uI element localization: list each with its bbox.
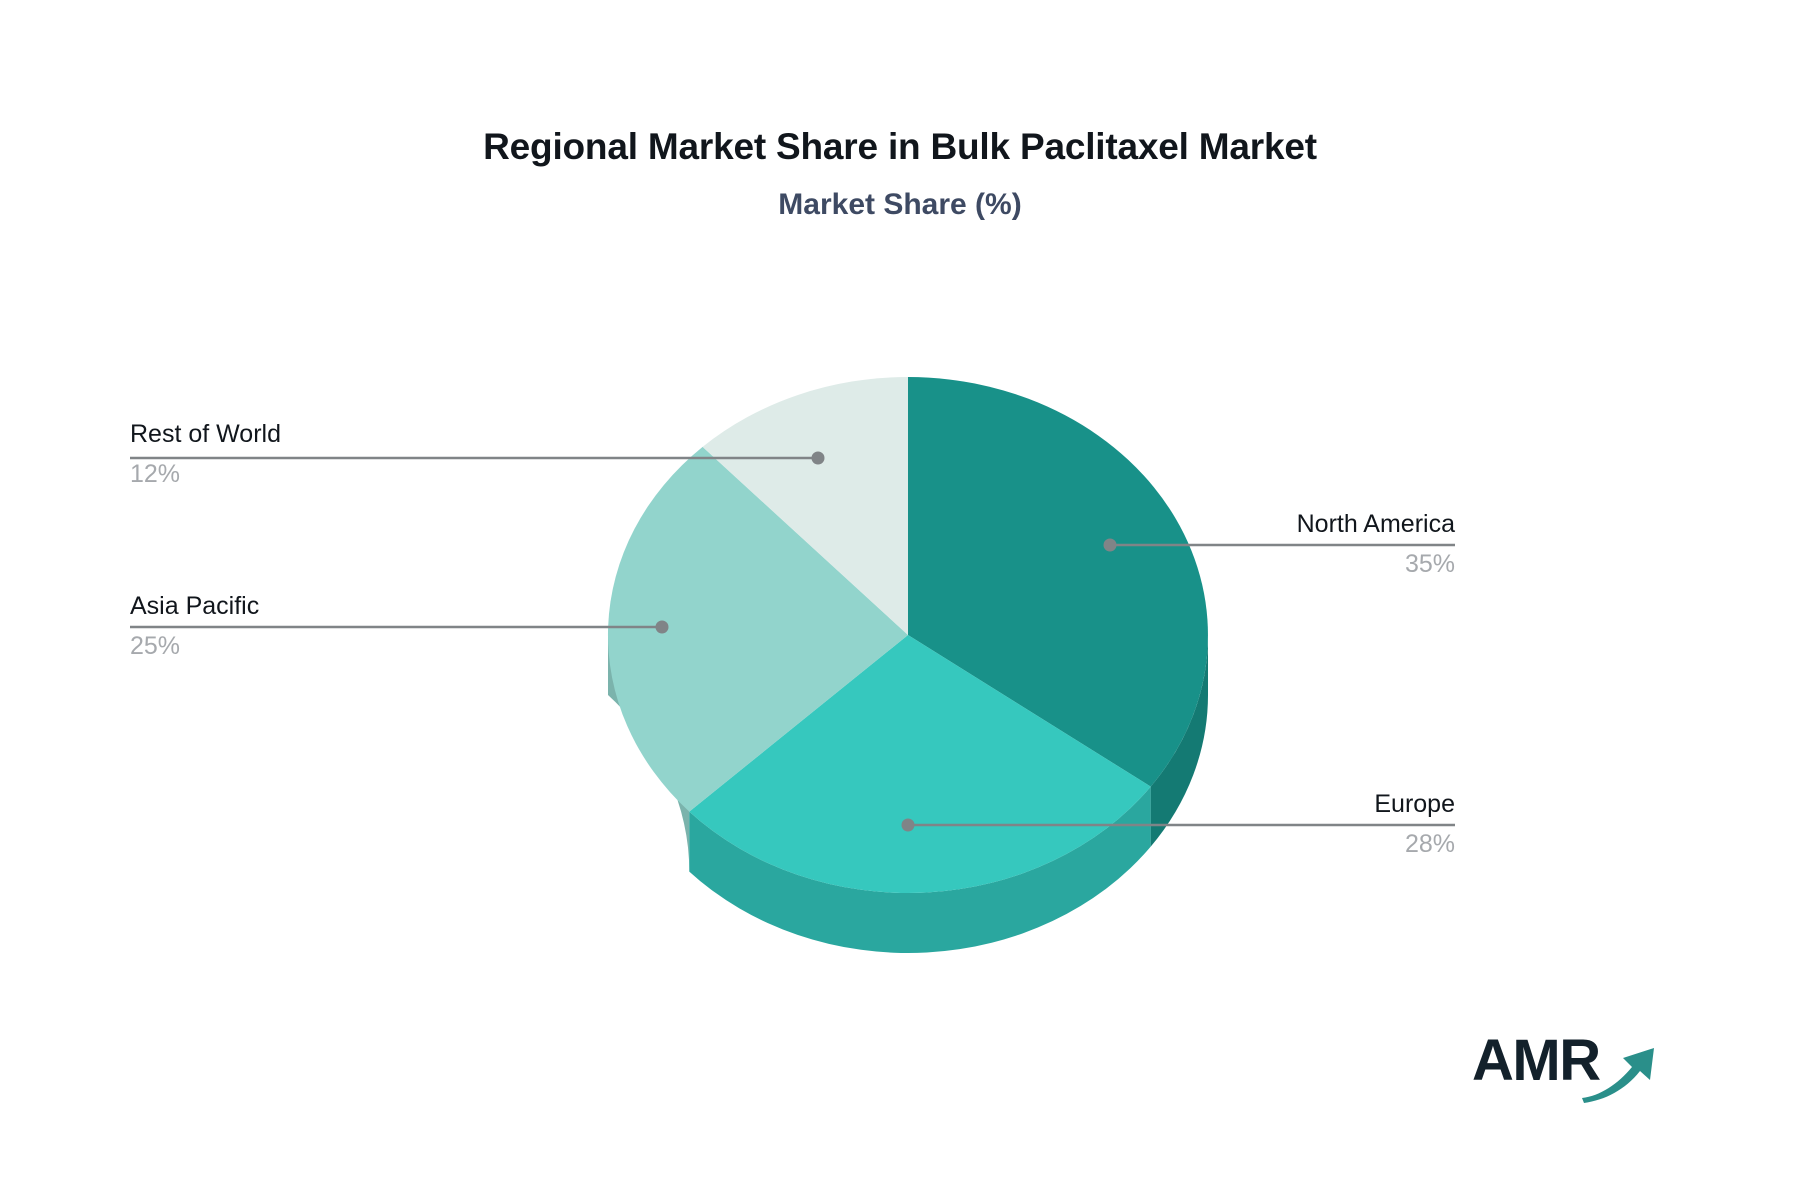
- callout-value-rest-of-world: 12%: [130, 460, 530, 490]
- chart-canvas: Regional Market Share in Bulk Paclitaxel…: [0, 0, 1800, 1196]
- callout-rest-of-world[interactable]: Rest of World 12%: [130, 420, 530, 489]
- callout-label-north-america: North America: [1050, 510, 1455, 540]
- callout-value-asia-pacific: 25%: [130, 632, 530, 662]
- callout-label-rest-of-world: Rest of World: [130, 420, 530, 450]
- amr-logo: AMR: [1472, 1032, 1652, 1110]
- leader-dot-rest-of-world: [812, 452, 825, 465]
- callout-label-asia-pacific: Asia Pacific: [130, 592, 530, 622]
- growth-arrow-icon: [1580, 1034, 1658, 1106]
- callout-label-europe: Europe: [1050, 790, 1455, 820]
- callout-europe[interactable]: Europe 28%: [1050, 790, 1455, 859]
- callout-asia-pacific[interactable]: Asia Pacific 25%: [130, 592, 530, 661]
- leader-dot-europe: [902, 819, 915, 832]
- leader-dot-asia-pacific: [656, 621, 669, 634]
- callout-value-north-america: 35%: [1050, 550, 1455, 580]
- callout-north-america[interactable]: North America 35%: [1050, 510, 1455, 579]
- callout-value-europe: 28%: [1050, 830, 1455, 860]
